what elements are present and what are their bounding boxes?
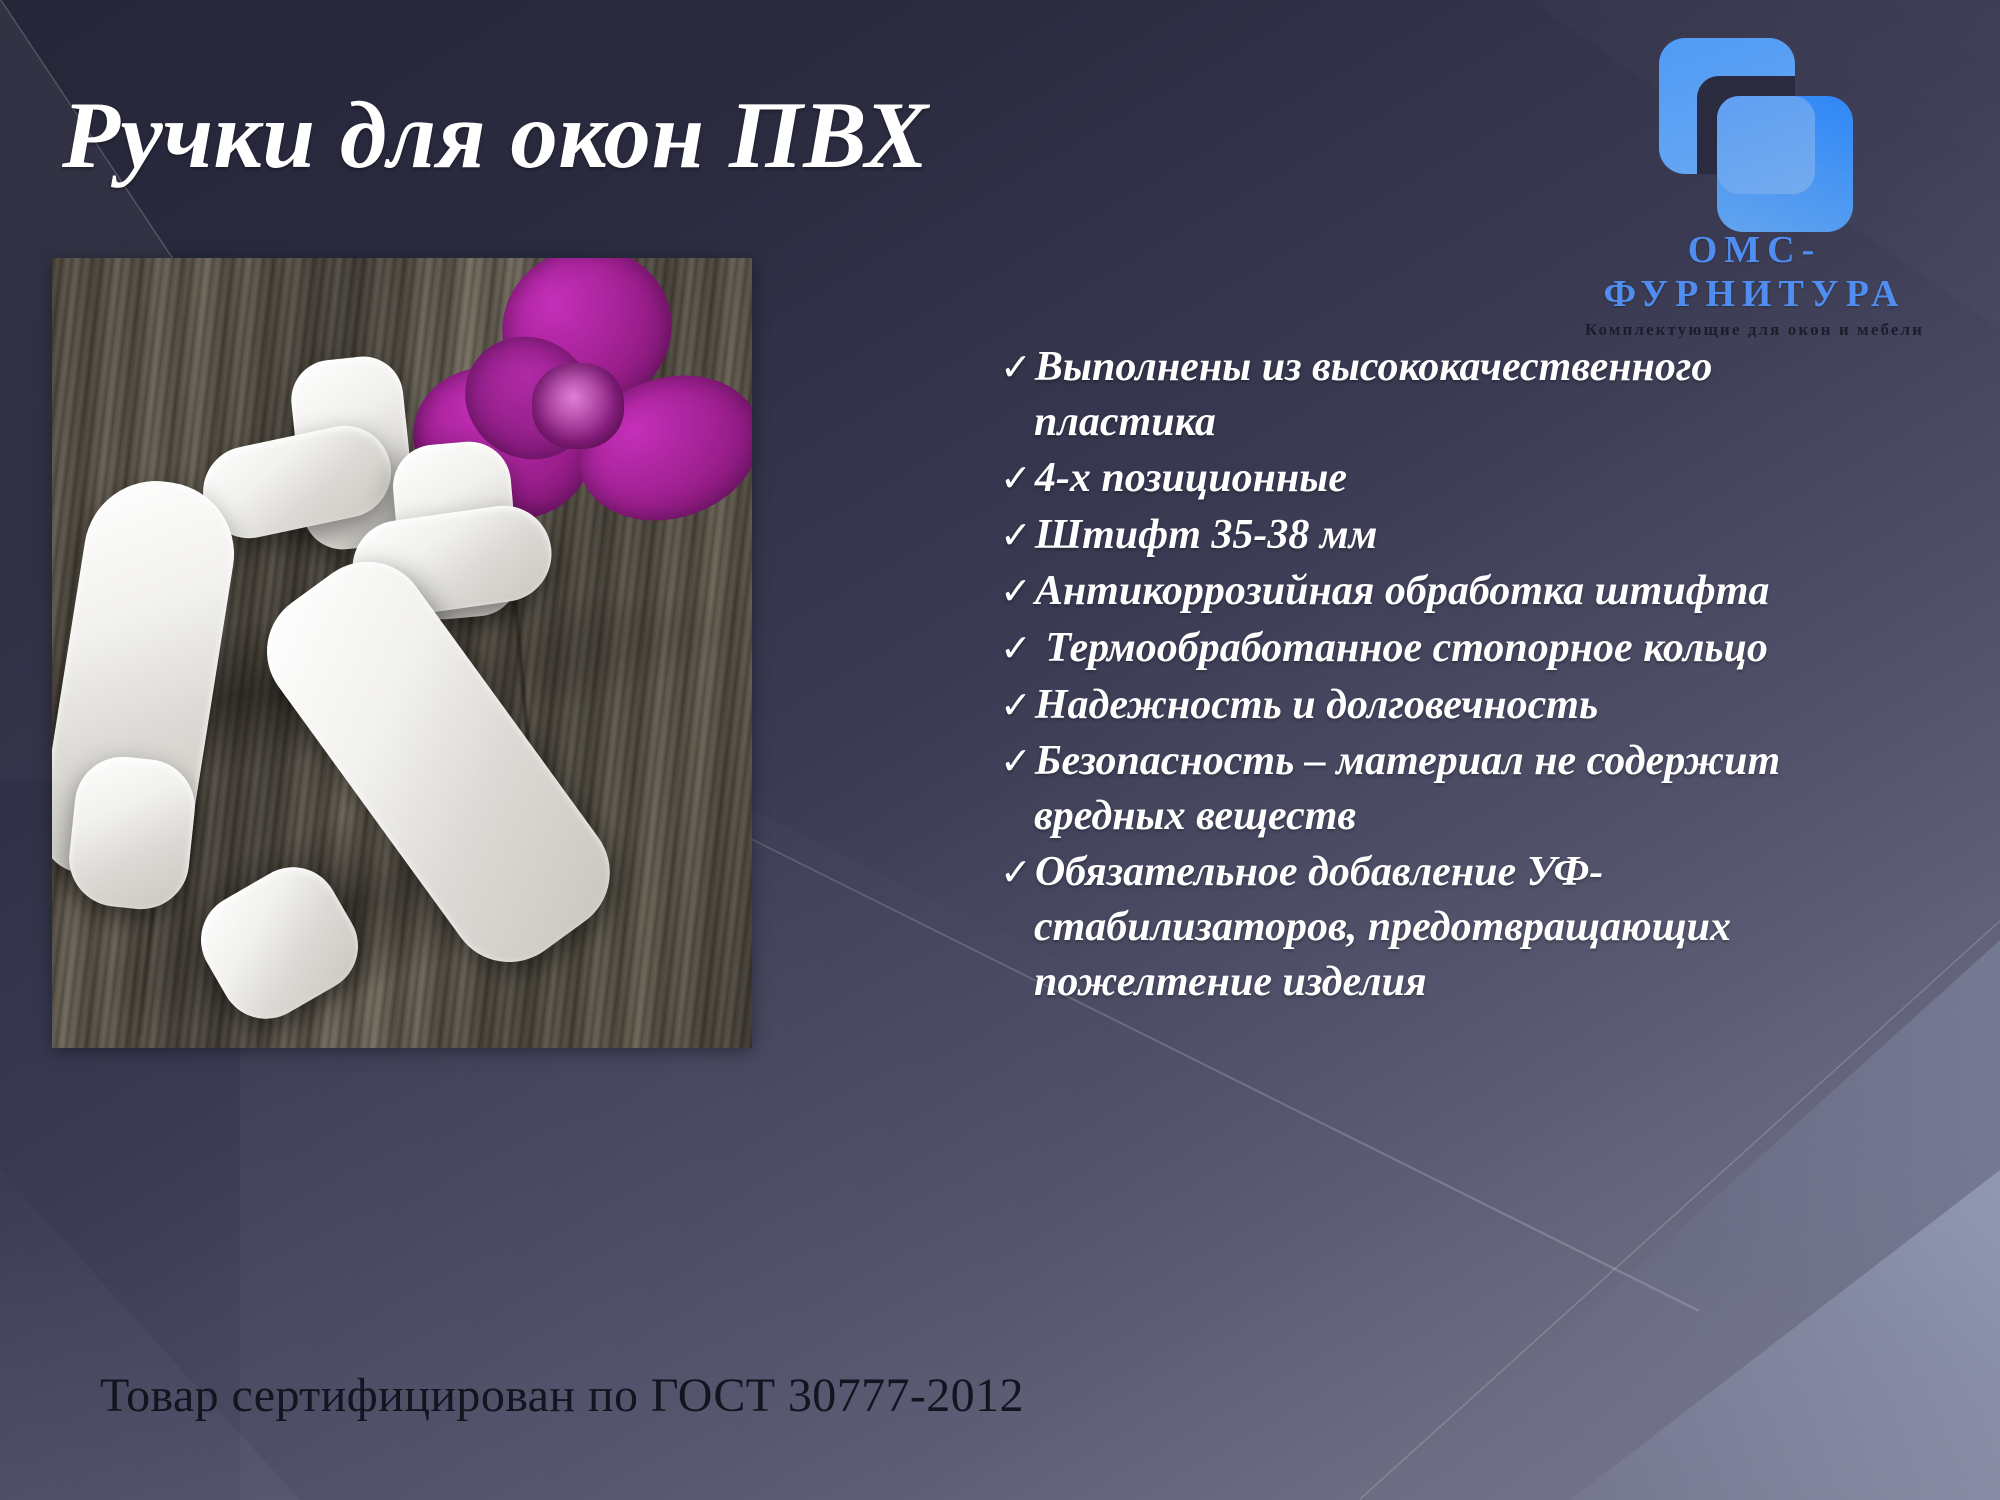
list-item-label: Штифт 35-38 мм [1035, 512, 1378, 558]
list-item-label: Выполнены из высококачественного пластик… [1034, 344, 1712, 445]
window-handle-tip [64, 752, 199, 914]
logo-squares-icon [1655, 22, 1855, 220]
list-item: ✓ Термообработанное стопорное кольцо [1000, 621, 1900, 676]
check-icon: ✓ [1000, 571, 1035, 613]
list-item-label: Безопасность – материал не содержит вред… [1034, 738, 1780, 839]
logo-tagline: Комплектующие для окон и мебели [1557, 320, 1952, 340]
check-icon: ✓ [1000, 741, 1035, 783]
presentation-slide: Ручки для окон ПВХ ОМС-ФУРНИТУРА Комплек… [0, 0, 2000, 1500]
list-item: ✓Обязательное добавление УФ-стабилизатор… [1000, 845, 1900, 1009]
page-title: Ручки для окон ПВХ [62, 86, 929, 186]
check-icon: ✓ [1000, 628, 1035, 670]
product-photo [52, 258, 752, 1048]
check-icon: ✓ [1000, 685, 1035, 727]
list-item: ✓Антикоррозийная обработка штифта [1000, 564, 1900, 619]
list-item-label: 4-х позиционные [1035, 455, 1347, 501]
list-item: ✓Штифт 35-38 мм [1000, 508, 1900, 563]
certification-note: Товар сертифицирован по ГОСТ 30777-2012 [100, 1368, 1024, 1423]
list-item-label: Термообработанное стопорное кольцо [1035, 625, 1768, 671]
feature-list: ✓Выполнены из высококачественного пласти… [1000, 340, 1900, 1011]
check-icon: ✓ [1000, 347, 1035, 389]
logo-brand-name: ОМС-ФУРНИТУРА [1557, 228, 1952, 316]
list-item: ✓Безопасность – материал не содержит вре… [1000, 734, 1900, 843]
background-facet-bottom-right-inner [1570, 1170, 2000, 1500]
list-item: ✓4-х позиционные [1000, 451, 1900, 506]
background-facet-bottom-left [0, 1170, 300, 1500]
orchid-center [532, 363, 624, 449]
list-item: ✓Выполнены из высококачественного пласти… [1000, 340, 1900, 449]
check-icon: ✓ [1000, 515, 1035, 557]
logo-square-overlap [1717, 96, 1815, 194]
company-logo: ОМС-ФУРНИТУРА Комплектующие для окон и м… [1557, 22, 1952, 340]
background-facet-bottom-right [1380, 940, 2000, 1500]
check-icon: ✓ [1000, 852, 1035, 894]
list-item-label: Антикоррозийная обработка штифта [1035, 568, 1770, 614]
list-item: ✓Надежность и долговечность [1000, 678, 1900, 733]
check-icon: ✓ [1000, 458, 1035, 500]
list-item-label: Надежность и долговечность [1035, 682, 1598, 728]
list-item-label: Обязательное добавление УФ-стабилизаторо… [1034, 849, 1731, 1004]
